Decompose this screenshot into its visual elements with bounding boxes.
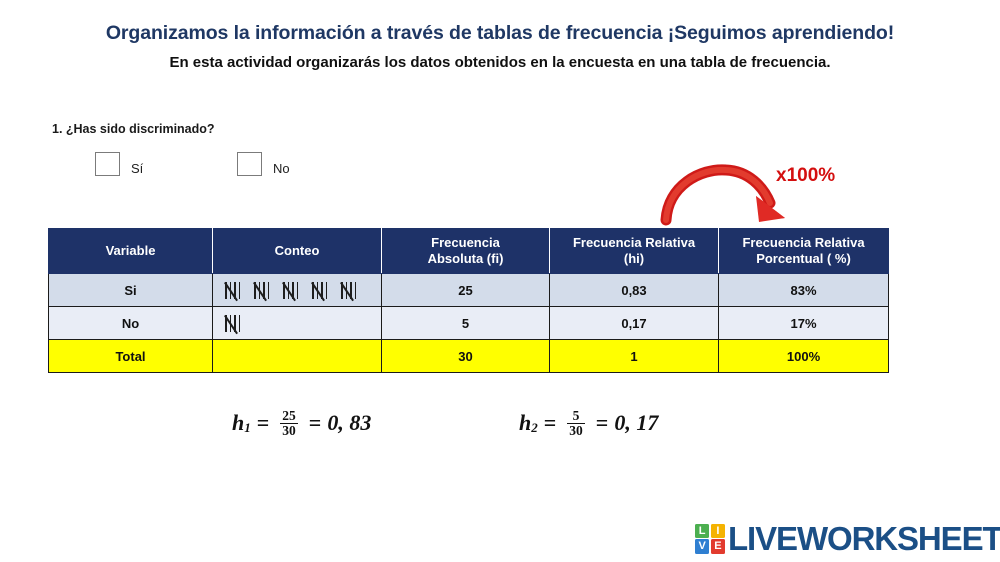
- formula-result: 0, 83: [327, 410, 371, 436]
- logo-tile-i: I: [711, 524, 725, 538]
- equals-sign: =: [309, 410, 322, 436]
- header-line: Conteo: [213, 243, 381, 259]
- formula-subscript: 1: [244, 420, 251, 436]
- cell-frecuencia-relativa: 0,83: [550, 274, 719, 307]
- tally-group: [283, 282, 305, 299]
- formula-symbol: h: [519, 410, 531, 436]
- checkbox-si[interactable]: [95, 152, 120, 176]
- logo-tiles-icon: L I V E: [695, 524, 725, 554]
- column-header-variable: Variable: [49, 229, 213, 274]
- checkbox-label-si: Sí: [131, 161, 143, 176]
- curved-arrow-icon: [660, 160, 790, 230]
- equals-sign: =: [257, 410, 270, 436]
- cell-conteo: [213, 340, 382, 373]
- fraction: 5 30: [567, 409, 585, 439]
- tally-marks-si: [213, 282, 381, 299]
- cell-variable: Si: [49, 274, 213, 307]
- checkbox-label-no: No: [273, 161, 290, 176]
- formula-result: 0, 17: [614, 410, 658, 436]
- table-row-total: Total 30 1 100%: [49, 340, 889, 373]
- cell-variable: Total: [49, 340, 213, 373]
- numerator: 25: [280, 409, 298, 423]
- header-line: Frecuencia: [382, 235, 549, 251]
- cell-frecuencia-relativa: 1: [550, 340, 719, 373]
- numerator: 5: [571, 409, 582, 423]
- denominator: 30: [280, 423, 298, 438]
- equals-sign: =: [596, 410, 609, 436]
- tally-group: [225, 315, 247, 332]
- column-header-frecuencia-absoluta: Frecuencia Absoluta (fi): [382, 229, 550, 274]
- liveworksheets-logo: L I V E LIVEWORKSHEETS: [695, 522, 1000, 555]
- frequency-table: Variable Conteo Frecuencia Absoluta (fi)…: [48, 228, 889, 373]
- cell-frecuencia-absoluta: 30: [382, 340, 550, 373]
- fraction: 25 30: [280, 409, 298, 439]
- checkbox-no[interactable]: [237, 152, 262, 176]
- table-row: No 5 0,17 17%: [49, 307, 889, 340]
- equals-sign: =: [544, 410, 557, 436]
- worksheet-canvas: Organizamos la información a través de t…: [0, 0, 1000, 562]
- tally-group: [341, 282, 363, 299]
- column-header-conteo: Conteo: [213, 229, 382, 274]
- header-line: Frecuencia Relativa: [719, 235, 888, 251]
- tally-group: [312, 282, 334, 299]
- cell-frecuencia-relativa-porcentual: 17%: [719, 307, 889, 340]
- formula-subscript: 2: [531, 420, 538, 436]
- cell-conteo: [213, 274, 382, 307]
- header-line: (hi): [550, 251, 718, 267]
- tally-group: [225, 282, 247, 299]
- header-line: Frecuencia Relativa: [550, 235, 718, 251]
- cell-variable: No: [49, 307, 213, 340]
- header-line: Variable: [49, 243, 212, 259]
- header-line: Porcentual ( %): [719, 251, 888, 267]
- cell-frecuencia-relativa-porcentual: 83%: [719, 274, 889, 307]
- page-subtitle: En esta actividad organizarás los datos …: [0, 54, 1000, 71]
- tally-marks-no: [213, 315, 381, 332]
- denominator: 30: [567, 423, 585, 438]
- logo-tile-v: V: [695, 539, 709, 553]
- formula-symbol: h: [232, 410, 244, 436]
- question-text: 1. ¿Has sido discriminado?: [52, 122, 215, 136]
- table-row: Si 25 0,83 83%: [49, 274, 889, 307]
- page-title: Organizamos la información a través de t…: [0, 22, 1000, 45]
- multiplier-annotation: x100%: [776, 165, 835, 187]
- logo-wordmark: LIVEWORKSHEETS: [728, 522, 1000, 555]
- cell-conteo: [213, 307, 382, 340]
- column-header-frecuencia-relativa: Frecuencia Relativa (hi): [550, 229, 719, 274]
- cell-frecuencia-absoluta: 5: [382, 307, 550, 340]
- cell-frecuencia-relativa-porcentual: 100%: [719, 340, 889, 373]
- logo-tile-l: L: [695, 524, 709, 538]
- column-header-frecuencia-relativa-porcentual: Frecuencia Relativa Porcentual ( %): [719, 229, 889, 274]
- formula-h1: h1 = 25 30 = 0, 83: [232, 408, 371, 438]
- table-header-row: Variable Conteo Frecuencia Absoluta (fi)…: [49, 229, 889, 274]
- tally-group: [254, 282, 276, 299]
- logo-tile-e: E: [711, 539, 725, 553]
- formula-h2: h2 = 5 30 = 0, 17: [519, 408, 658, 438]
- header-line: Absoluta (fi): [382, 251, 549, 267]
- cell-frecuencia-absoluta: 25: [382, 274, 550, 307]
- cell-frecuencia-relativa: 0,17: [550, 307, 719, 340]
